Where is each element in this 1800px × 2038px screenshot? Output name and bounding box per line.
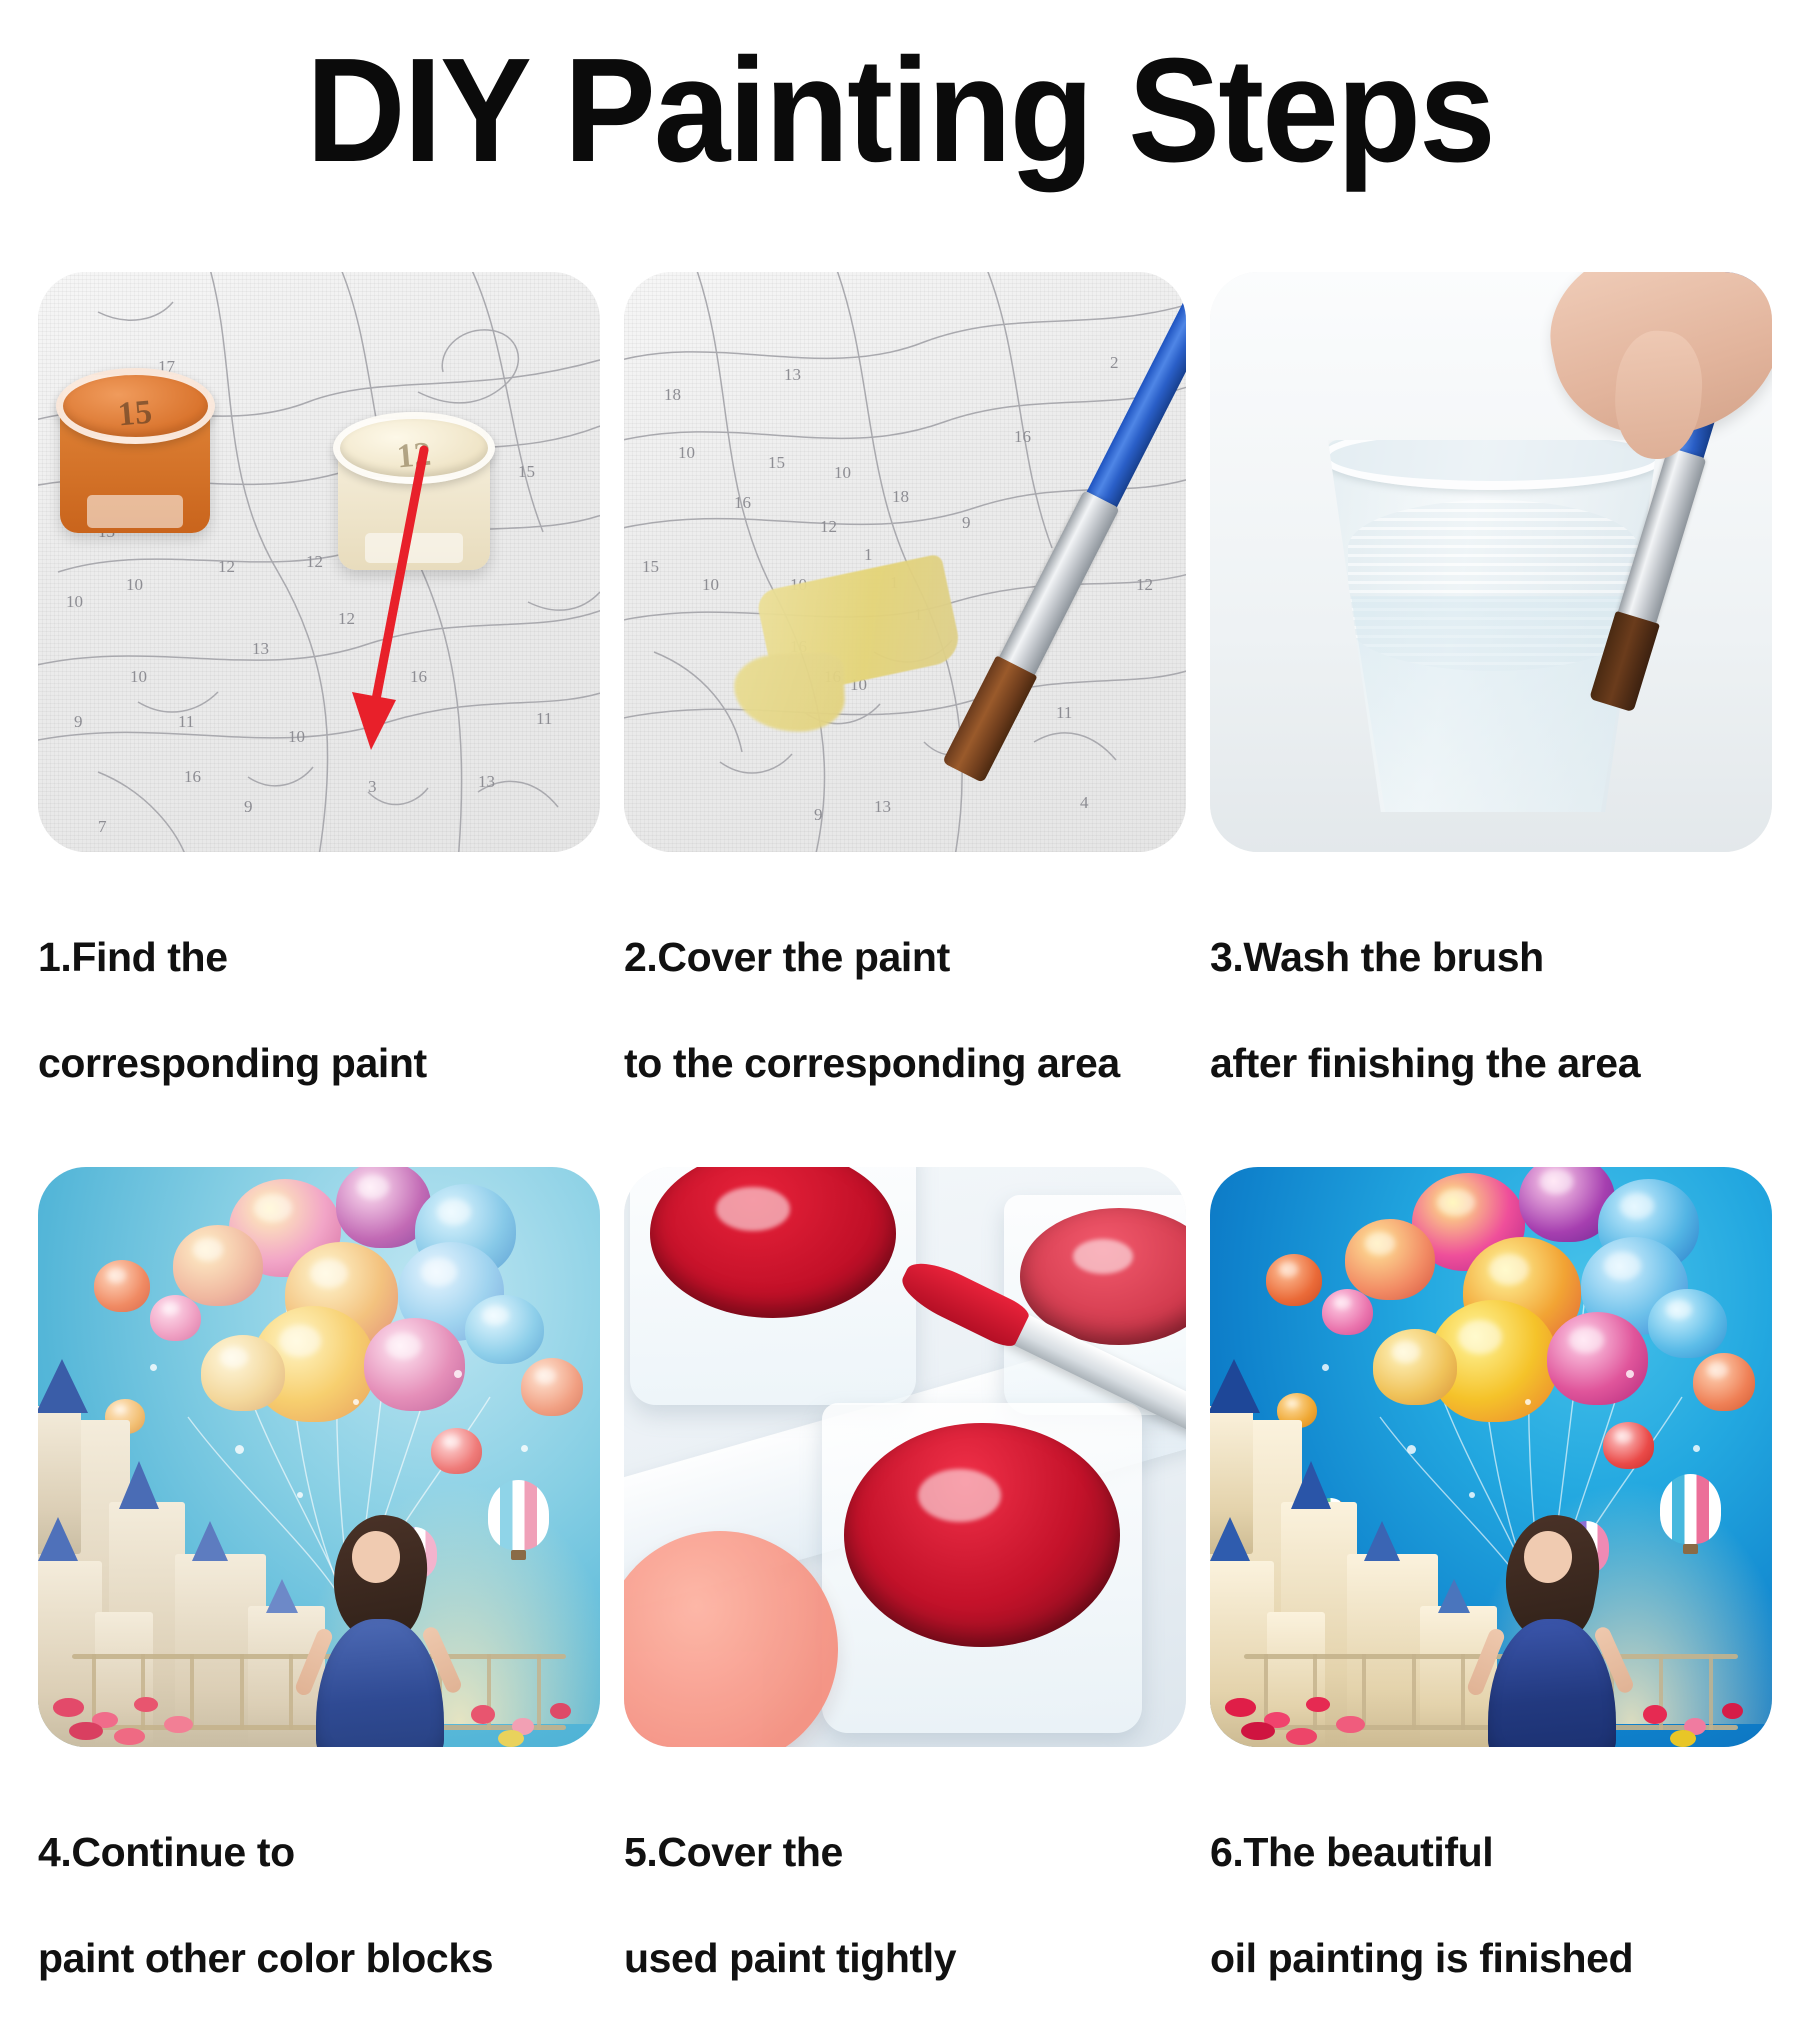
svg-text:9: 9 bbox=[74, 712, 83, 731]
balloon-basket bbox=[511, 1550, 526, 1560]
step-3-caption-line2: after finishing the area bbox=[1210, 1037, 1772, 1090]
balloon bbox=[465, 1295, 544, 1365]
paint-pot-15: 15 bbox=[60, 368, 210, 558]
balloon bbox=[521, 1358, 583, 1416]
flowers-right bbox=[1626, 1631, 1772, 1747]
step-4-caption-line2: paint other color blocks bbox=[38, 1932, 600, 1985]
svg-text:15: 15 bbox=[768, 453, 785, 472]
paint-highlight bbox=[716, 1187, 790, 1231]
red-paint-pot-top bbox=[630, 1167, 916, 1405]
balloon bbox=[94, 1260, 150, 1312]
svg-text:10: 10 bbox=[130, 667, 147, 686]
step-card-5: 5.Cover the used paint tightly bbox=[624, 1167, 1186, 2038]
svg-text:7: 7 bbox=[98, 817, 107, 836]
girl-figure bbox=[1480, 1515, 1630, 1747]
pot-latch-tab bbox=[87, 495, 183, 527]
svg-text:4: 4 bbox=[1080, 793, 1089, 812]
svg-text:10: 10 bbox=[702, 575, 719, 594]
step-5-caption-line1: 5.Cover the bbox=[624, 1826, 1186, 1879]
balloon-basket bbox=[1683, 1544, 1698, 1554]
svg-text:12: 12 bbox=[218, 557, 235, 576]
paint-by-numbers-outlines: 16 17 13 18 10 10 12 12 12 11 15 13 bbox=[38, 272, 600, 852]
balloon bbox=[364, 1318, 465, 1411]
balloon bbox=[1693, 1353, 1755, 1411]
balloon bbox=[1322, 1289, 1373, 1335]
step-1-image: 16 17 13 18 10 10 12 12 12 11 15 13 bbox=[38, 272, 600, 852]
girl-figure bbox=[308, 1515, 458, 1747]
flowers-right bbox=[454, 1631, 600, 1747]
step-5-image bbox=[624, 1167, 1186, 1747]
step-card-1: 16 17 13 18 10 10 12 12 12 11 15 13 bbox=[38, 272, 600, 1143]
hot-air-balloon bbox=[1660, 1474, 1722, 1544]
svg-text:11: 11 bbox=[1056, 703, 1072, 722]
girl-head bbox=[352, 1531, 400, 1583]
water-cup bbox=[1328, 440, 1658, 812]
svg-text:13: 13 bbox=[252, 639, 269, 658]
svg-text:3: 3 bbox=[368, 777, 377, 796]
balloon bbox=[1547, 1312, 1648, 1405]
svg-text:13: 13 bbox=[478, 772, 495, 791]
svg-text:13: 13 bbox=[784, 365, 801, 384]
svg-text:10: 10 bbox=[678, 443, 695, 462]
page-title: DIY Painting Steps bbox=[63, 36, 1737, 186]
svg-text:1: 1 bbox=[864, 545, 873, 564]
diy-painting-steps-infographic: DIY Painting Steps bbox=[0, 0, 1800, 1800]
svg-text:13: 13 bbox=[874, 797, 891, 816]
step-1-caption-line1: 1.Find the bbox=[38, 931, 600, 984]
step-card-6: 6.The beautiful oil painting is finished bbox=[1210, 1167, 1772, 2038]
svg-text:9: 9 bbox=[244, 797, 253, 816]
step-4-caption: 4.Continue to paint other color blocks bbox=[38, 1773, 600, 2038]
step-1-caption-line2: corresponding paint bbox=[38, 1037, 600, 1090]
svg-text:10: 10 bbox=[126, 575, 143, 594]
artwork-finished bbox=[1210, 1167, 1772, 1747]
step-3-caption-line1: 3.Wash the brush bbox=[1210, 931, 1772, 984]
step-3-caption: 3.Wash the brush after finishing the are… bbox=[1210, 878, 1772, 1143]
steps-grid: 16 17 13 18 10 10 12 12 12 11 15 13 bbox=[38, 272, 1772, 2038]
svg-text:12: 12 bbox=[820, 517, 837, 536]
svg-text:11: 11 bbox=[178, 712, 194, 731]
svg-text:10: 10 bbox=[834, 463, 851, 482]
hot-air-balloon bbox=[488, 1480, 550, 1550]
svg-text:10: 10 bbox=[288, 727, 305, 746]
balloon bbox=[1648, 1289, 1727, 1359]
balloon bbox=[1345, 1219, 1435, 1300]
red-paint-pot-bottom bbox=[822, 1403, 1142, 1733]
svg-text:16: 16 bbox=[1014, 427, 1031, 446]
svg-text:2: 2 bbox=[1110, 353, 1119, 372]
svg-text:16: 16 bbox=[734, 493, 751, 512]
girl-head bbox=[1524, 1531, 1572, 1583]
step-2-caption-line2: to the corresponding area bbox=[624, 1037, 1186, 1090]
svg-text:16: 16 bbox=[184, 767, 201, 786]
paint-highlight bbox=[1073, 1239, 1133, 1274]
step-4-caption-line1: 4.Continue to bbox=[38, 1826, 600, 1879]
balloon bbox=[1603, 1422, 1654, 1468]
svg-text:9: 9 bbox=[962, 513, 971, 532]
step-2-image: 18 13 10 15 10 16 12 18 16 2 1 1 bbox=[624, 272, 1186, 852]
step-2-caption: 2.Cover the paint to the corresponding a… bbox=[624, 878, 1186, 1143]
svg-text:15: 15 bbox=[518, 462, 535, 481]
step-4-image bbox=[38, 1167, 600, 1747]
paint-highlight bbox=[918, 1469, 1001, 1522]
step-6-caption-line2: oil painting is finished bbox=[1210, 1932, 1772, 1985]
flowers-left bbox=[38, 1631, 229, 1747]
svg-text:11: 11 bbox=[536, 709, 552, 728]
step-5-caption-line2: used paint tightly bbox=[624, 1932, 1186, 1985]
step-2-caption-line1: 2.Cover the paint bbox=[624, 931, 1186, 984]
svg-text:18: 18 bbox=[892, 487, 909, 506]
step-6-caption: 6.The beautiful oil painting is finished bbox=[1210, 1773, 1772, 2038]
svg-text:15: 15 bbox=[642, 557, 659, 576]
step-card-2: 18 13 10 15 10 16 12 18 16 2 1 1 bbox=[624, 272, 1186, 1143]
artwork-in-progress bbox=[38, 1167, 600, 1747]
svg-text:12: 12 bbox=[306, 552, 323, 571]
steps-row-bottom: 4.Continue to paint other color blocks bbox=[38, 1167, 1772, 2038]
step-card-4: 4.Continue to paint other color blocks bbox=[38, 1167, 600, 2038]
svg-text:10: 10 bbox=[66, 592, 83, 611]
balloon bbox=[1266, 1254, 1322, 1306]
balloon bbox=[150, 1295, 201, 1341]
red-paint bbox=[844, 1423, 1119, 1647]
step-6-image bbox=[1210, 1167, 1772, 1747]
red-arrow-icon bbox=[334, 442, 464, 772]
steps-row-top: 16 17 13 18 10 10 12 12 12 11 15 13 bbox=[38, 272, 1772, 1143]
balloon bbox=[431, 1428, 482, 1474]
step-5-caption: 5.Cover the used paint tightly bbox=[624, 1773, 1186, 2038]
svg-text:18: 18 bbox=[664, 385, 681, 404]
step-1-caption: 1.Find the corresponding paint bbox=[38, 878, 600, 1143]
step-6-caption-line1: 6.The beautiful bbox=[1210, 1826, 1772, 1879]
balloon bbox=[173, 1225, 263, 1306]
svg-text:9: 9 bbox=[814, 805, 823, 824]
step-3-image bbox=[1210, 272, 1772, 852]
flowers-left bbox=[1210, 1631, 1401, 1747]
step-card-3: 3.Wash the brush after finishing the are… bbox=[1210, 272, 1772, 1143]
svg-text:12: 12 bbox=[1136, 575, 1153, 594]
